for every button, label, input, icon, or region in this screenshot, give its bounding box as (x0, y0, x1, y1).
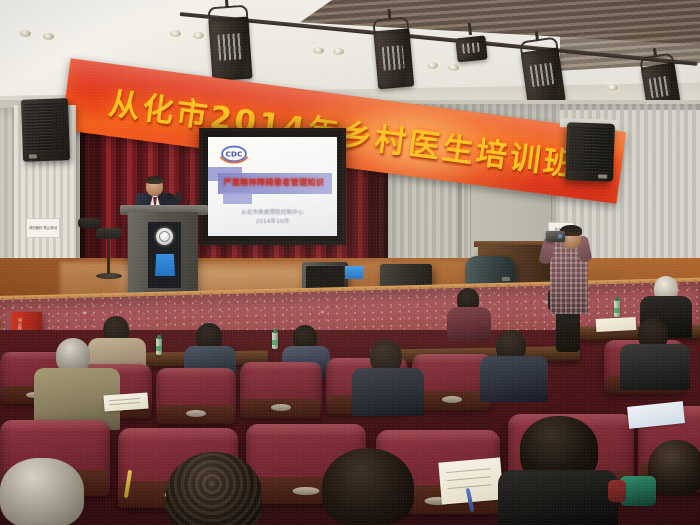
downlight-icon (170, 30, 181, 37)
downlight-icon (20, 30, 31, 37)
handout-paper (596, 317, 637, 332)
slide-subtitle-org: 从化市疾病预防控制中心 (221, 208, 324, 216)
photographer-legs (556, 310, 580, 352)
slide-title-text: 严重精神障碍患者管理知识 (220, 177, 328, 188)
audience-member-head (0, 458, 84, 525)
bottle-cap (157, 335, 161, 339)
stage-light-fixture (455, 33, 488, 64)
bottle-label (156, 346, 162, 351)
camera-lens-icon (557, 233, 563, 239)
auditorium-photo: 从化市2014年乡村医生培训班 CDC 严重精神障碍患者管理知识 从化市疾病预防… (0, 0, 700, 525)
paper-text-line (109, 398, 140, 401)
stage-light-fixture (206, 12, 255, 85)
svg-text:CDC: CDC (226, 150, 243, 159)
paper-text-line (447, 476, 490, 481)
seat-number-plate (271, 404, 291, 411)
seat-side-pouch-accent (608, 480, 626, 502)
seat-rim (240, 362, 322, 371)
seat-number-plate (442, 396, 462, 403)
bar-stool-base (96, 273, 122, 279)
fire-cabinet-label: 消火栓 (16, 318, 22, 330)
paper-text-line (109, 402, 140, 405)
cdc-logo-icon: CDC (217, 144, 251, 166)
slide-subtitle-date: 2014年10月 (221, 217, 324, 225)
podium-emblem-ring (159, 231, 170, 242)
wall-placard-left: 消防器材 禁止挪动 (26, 218, 60, 238)
monitor-screen-glow (345, 266, 363, 279)
downlight-icon (43, 33, 54, 40)
bottle-cap (615, 297, 619, 301)
speaker-badge (598, 174, 607, 178)
podium-emblem-icon (156, 228, 173, 245)
seat-rim (246, 424, 366, 437)
speaker-badge (29, 154, 37, 158)
audience-member-head (322, 448, 414, 525)
seat-number-plate (186, 410, 206, 417)
speaker-grill (568, 125, 612, 172)
downlight-icon (313, 47, 324, 54)
bar-stool-seat[interactable] (78, 218, 100, 228)
bar-stool-pole (107, 238, 110, 276)
water-bottle (614, 300, 620, 317)
presenter-hair (146, 176, 163, 184)
seat-rim (118, 428, 238, 441)
bottle-cap (273, 329, 277, 333)
wall-speaker-left (21, 98, 70, 162)
seat-rim (0, 420, 110, 432)
camera-icon (546, 231, 565, 242)
auditorium-seat[interactable] (240, 362, 322, 418)
water-bottle (272, 332, 278, 349)
downlight-icon (333, 48, 344, 55)
bottle-label (614, 308, 620, 313)
bottle-label (272, 340, 278, 345)
paper-text-line (447, 468, 490, 473)
downlight-icon (448, 64, 459, 71)
projection-screen: CDC 严重精神障碍患者管理知识 从化市疾病预防控制中心 2014年10月 (199, 128, 346, 245)
audience-member-body (620, 344, 690, 390)
stage-light-fixture (371, 25, 417, 94)
slide-accent-band-lower (223, 192, 251, 204)
downlight-icon (193, 32, 204, 39)
podium-blue-accent (155, 254, 175, 276)
seat-number-plate (293, 487, 320, 495)
seat-rim (376, 430, 500, 443)
audience-member-body (352, 368, 424, 416)
audience-member-body (498, 470, 618, 525)
speaker-badge (502, 277, 510, 281)
audience-member-body (447, 307, 491, 341)
seat-rim (156, 368, 236, 377)
downlight-icon (427, 62, 438, 69)
auditorium-seat[interactable] (156, 368, 236, 424)
downlight-icon (607, 84, 618, 91)
audience-member-body (480, 356, 548, 402)
wall-speaker-right (565, 122, 615, 182)
handout-paper (103, 392, 148, 411)
speaker-grill (24, 101, 67, 151)
projection-screen-surface: CDC 严重精神障碍患者管理知识 从化市疾病预防控制中心 2014年10月 (208, 137, 337, 236)
water-bottle (156, 338, 162, 355)
floor-monitor-speaker (465, 256, 515, 286)
wall-placard-left-text: 消防器材 禁止挪动 (29, 226, 57, 231)
